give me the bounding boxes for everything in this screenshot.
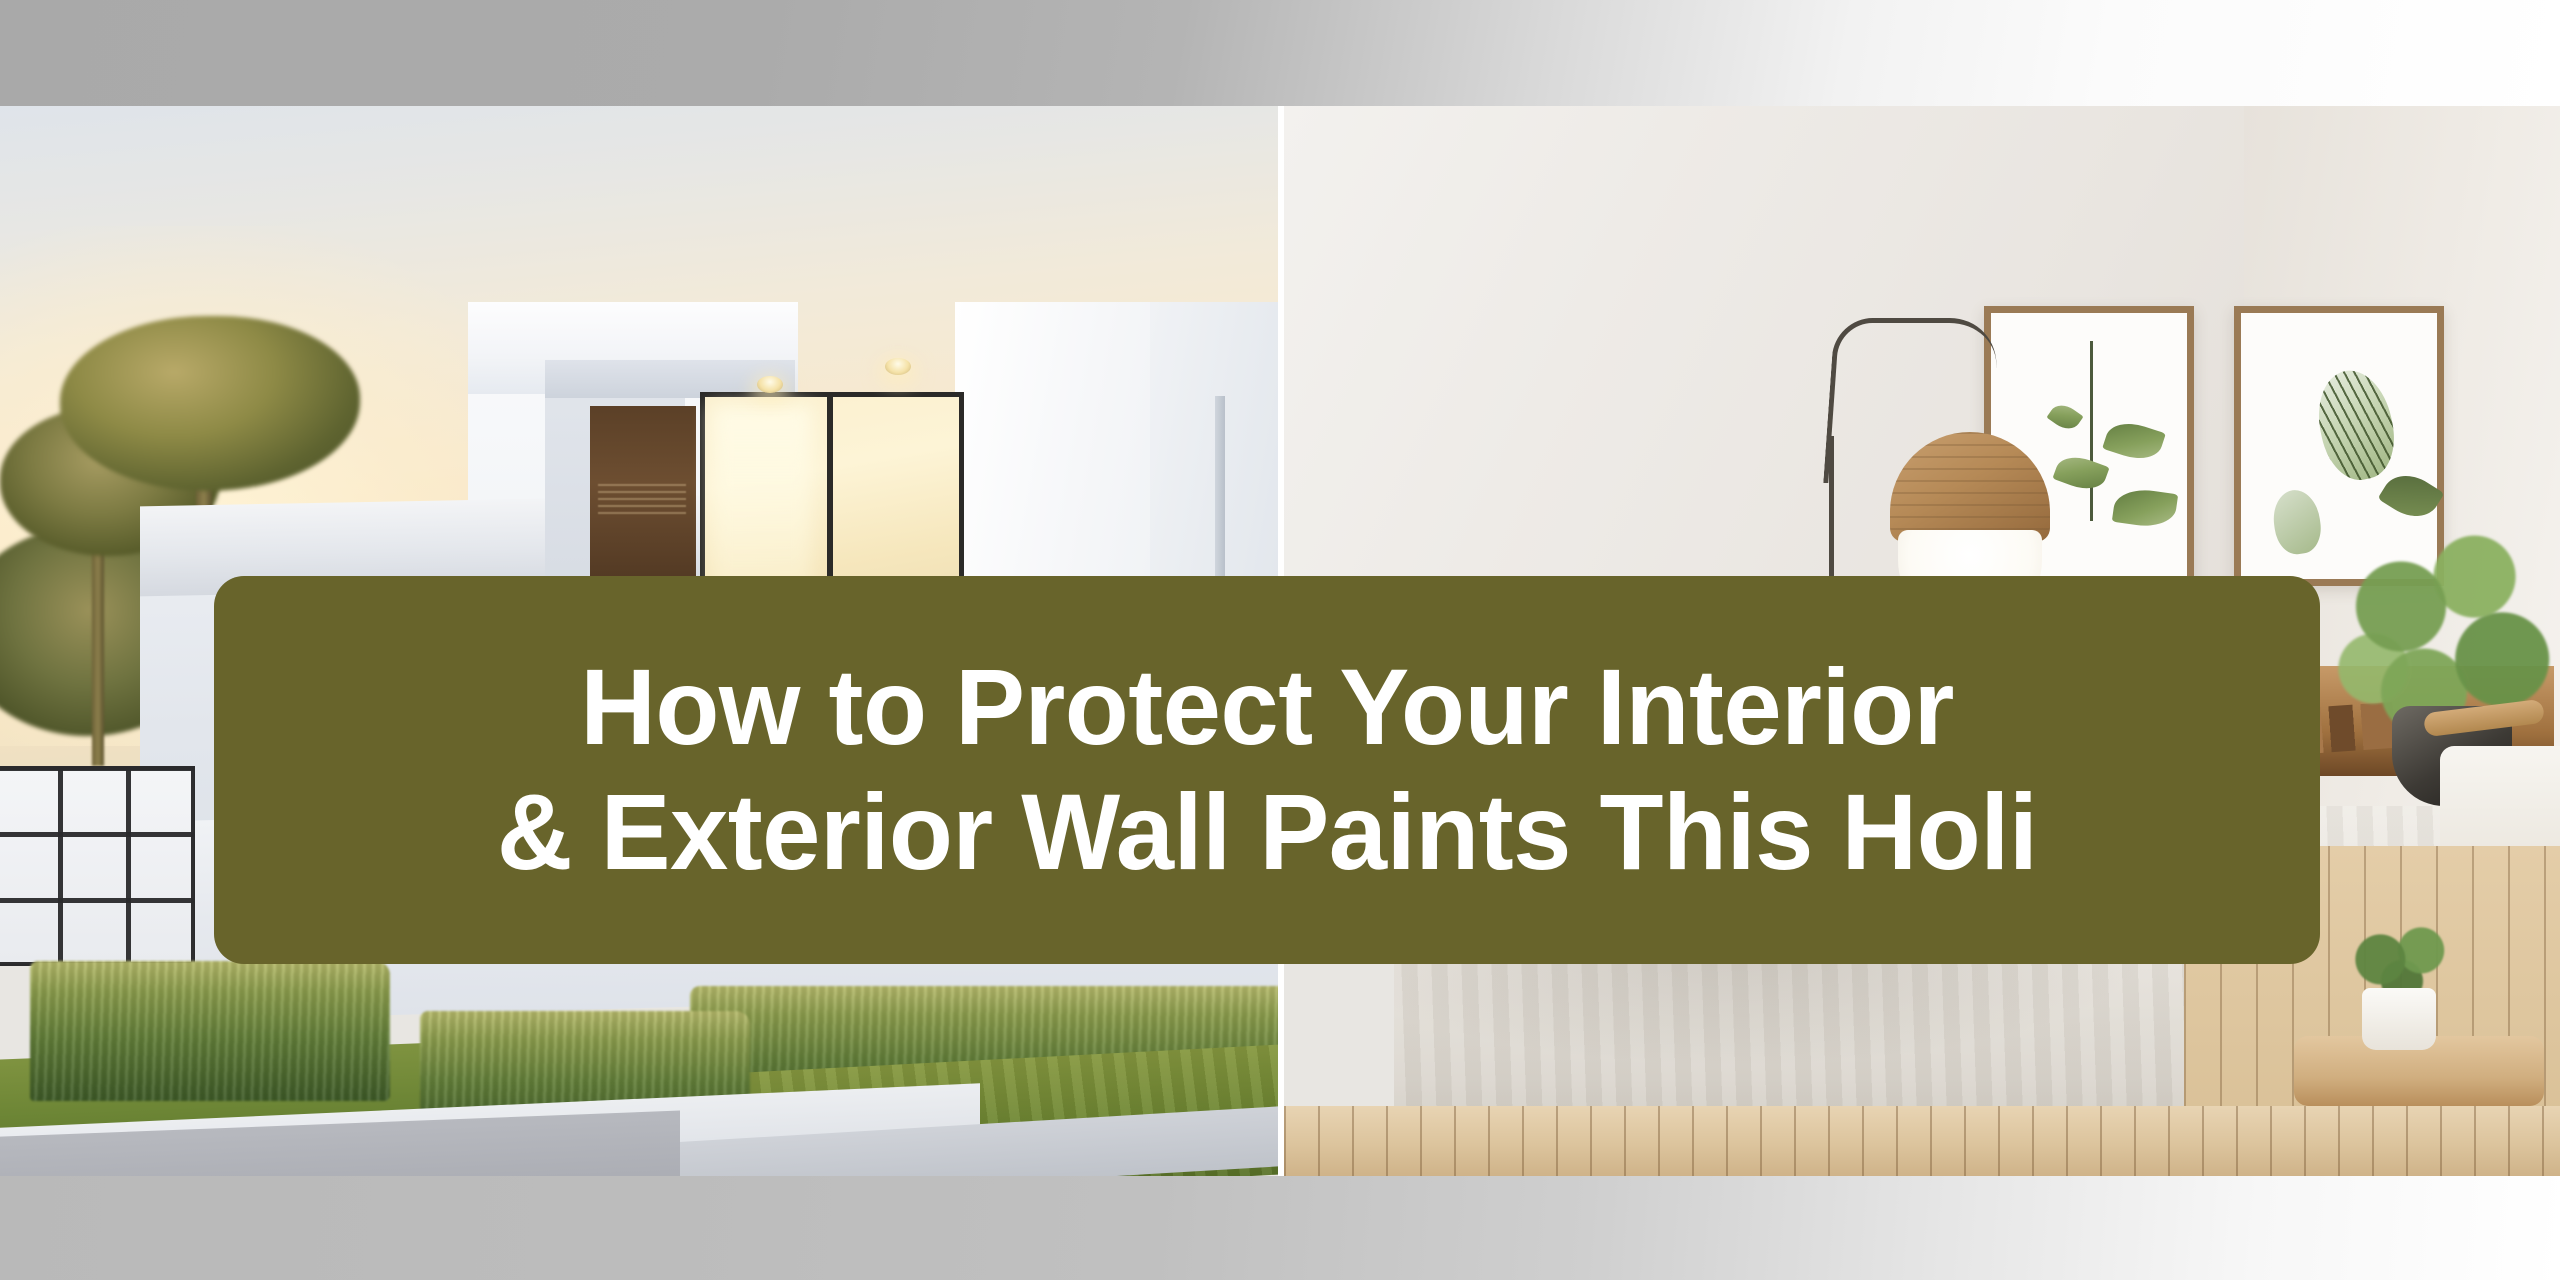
title-line-1: How to Protect Your Interior xyxy=(580,649,1954,766)
ceiling-spotlight xyxy=(757,376,783,393)
title-overlay-card: How to Protect Your Interior & Exterior … xyxy=(214,576,2320,964)
tray-plant-pot xyxy=(2362,988,2436,1050)
garage-grid-frame xyxy=(0,766,195,966)
art-plant-stem xyxy=(2090,341,2093,521)
blog-banner: How to Protect Your Interior & Exterior … xyxy=(0,0,2560,1280)
hero-image-band: How to Protect Your Interior & Exterior … xyxy=(0,106,2560,1176)
wood-floor xyxy=(1284,1106,2560,1176)
bottom-chrome-bar xyxy=(0,1176,2560,1280)
door-slat-detail xyxy=(598,484,686,518)
title-line-2: & Exterior Wall Paints This Holi xyxy=(497,774,2038,891)
ceiling-spotlight xyxy=(885,358,911,375)
top-chrome-bar xyxy=(0,0,2560,106)
tree-canopy xyxy=(60,316,360,491)
hedge-row xyxy=(30,961,390,1101)
